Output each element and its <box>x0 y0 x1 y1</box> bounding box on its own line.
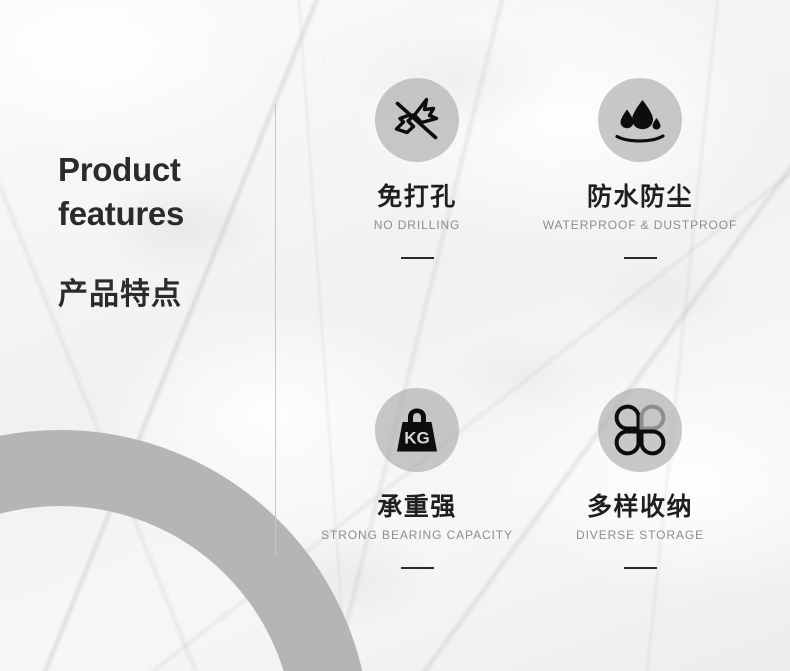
feature-label-english: NO DRILLING <box>297 219 537 232</box>
icon-circle-weight: KG <box>375 388 459 472</box>
page-title: Product features 产品特点 <box>58 148 273 313</box>
feature-label-chinese: 免打孔 <box>297 184 537 212</box>
diverse-storage-icon <box>612 402 668 458</box>
icon-circle-diverse-storage <box>598 388 682 472</box>
feature-label-english: STRONG BEARING CAPACITY <box>297 529 537 542</box>
feature-label-chinese: 承重强 <box>297 494 537 522</box>
feature-label-chinese: 防水防尘 <box>520 184 760 212</box>
feature-label-english: DIVERSE STORAGE <box>520 529 760 542</box>
weight-kg-icon: KG <box>389 402 445 458</box>
feature-divider-dash <box>401 567 434 569</box>
feature-divider-dash <box>624 567 657 569</box>
icon-circle-no-drilling <box>375 78 459 162</box>
title-english: Product features <box>58 148 273 235</box>
title-english-line2: features <box>58 192 273 236</box>
title-english-line1: Product <box>58 148 273 192</box>
feature-item-diverse-storage: 多样收纳 DIVERSE STORAGE <box>520 388 760 569</box>
feature-item-waterproof-dustproof: 防水防尘 WATERPROOF & DUSTPROOF <box>520 78 760 259</box>
product-features-infographic: Product features 产品特点 免打孔 NO DRILLING <box>0 0 790 671</box>
feature-label-english: WATERPROOF & DUSTPROOF <box>520 219 760 232</box>
feature-item-no-drilling: 免打孔 NO DRILLING <box>297 78 537 259</box>
feature-divider-dash <box>401 257 434 259</box>
feature-item-strong-bearing-capacity: KG 承重强 STRONG BEARING CAPACITY <box>297 388 537 569</box>
vertical-divider <box>275 104 276 556</box>
icon-circle-waterproof-dustproof <box>598 78 682 162</box>
feature-label-chinese: 多样收纳 <box>520 494 760 522</box>
waterproof-dustproof-icon <box>611 91 669 149</box>
title-chinese: 产品特点 <box>58 269 273 313</box>
feature-divider-dash <box>624 257 657 259</box>
no-drilling-icon <box>388 91 446 149</box>
weight-icon-text: KG <box>404 429 430 448</box>
